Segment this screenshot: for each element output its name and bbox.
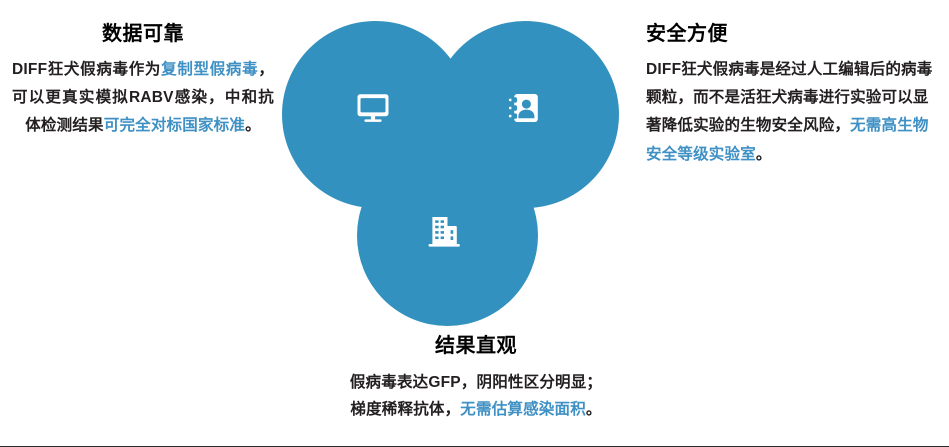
feature-heading-bottom: 结果直观	[280, 334, 672, 359]
feature-bottom-line-1: 假病毒表达GFP，阴阳性区分明显；	[350, 374, 602, 391]
feature-left-text-1: DIFF狂犬假病毒作为	[12, 61, 161, 78]
feature-bottom-line-2-text: 梯度稀释抗体，	[350, 401, 460, 418]
feature-left-accent-2: 可完全对标国家标准	[104, 117, 245, 134]
feature-heading-right: 安全方便	[646, 22, 936, 47]
feature-body-left: DIFF狂犬假病毒作为复制型假病毒，可以更真实模拟RABV感染，中和抗体检测结果…	[12, 56, 274, 141]
feature-left-text-3: 。	[245, 117, 261, 134]
feature-heading-left: 数据可靠	[12, 22, 274, 47]
slide-root: 数据可靠 DIFF狂犬假病毒作为复制型假病毒，可以更真实模拟RABV感染，中和抗…	[0, 0, 949, 447]
feature-body-right: DIFF狂犬假病毒是经过人工编辑后的病毒颗粒，而不是活狂犬病毒进行实验可以显著降…	[646, 56, 936, 169]
trefoil-graphic	[279, 14, 613, 326]
contact-book-icon	[505, 89, 543, 132]
feature-block-left: 数据可靠 DIFF狂犬假病毒作为复制型假病毒，可以更真实模拟RABV感染，中和抗…	[12, 22, 274, 141]
monitor-chart-icon	[354, 89, 392, 132]
feature-bottom-accent: 无需估算感染面积	[460, 401, 586, 418]
feature-bottom-line-2-end: 。	[586, 401, 602, 418]
feature-right-text-2: 。	[756, 146, 772, 163]
feature-body-bottom: 假病毒表达GFP，阴阳性区分明显；梯度稀释抗体，无需估算感染面积。	[280, 369, 672, 423]
feature-left-accent-1: 复制型假病毒	[161, 61, 258, 78]
office-building-icon	[424, 211, 464, 256]
feature-block-bottom: 结果直观 假病毒表达GFP，阴阳性区分明显；梯度稀释抗体，无需估算感染面积。	[280, 334, 672, 423]
feature-block-right: 安全方便 DIFF狂犬假病毒是经过人工编辑后的病毒颗粒，而不是活狂犬病毒进行实验…	[646, 22, 936, 169]
